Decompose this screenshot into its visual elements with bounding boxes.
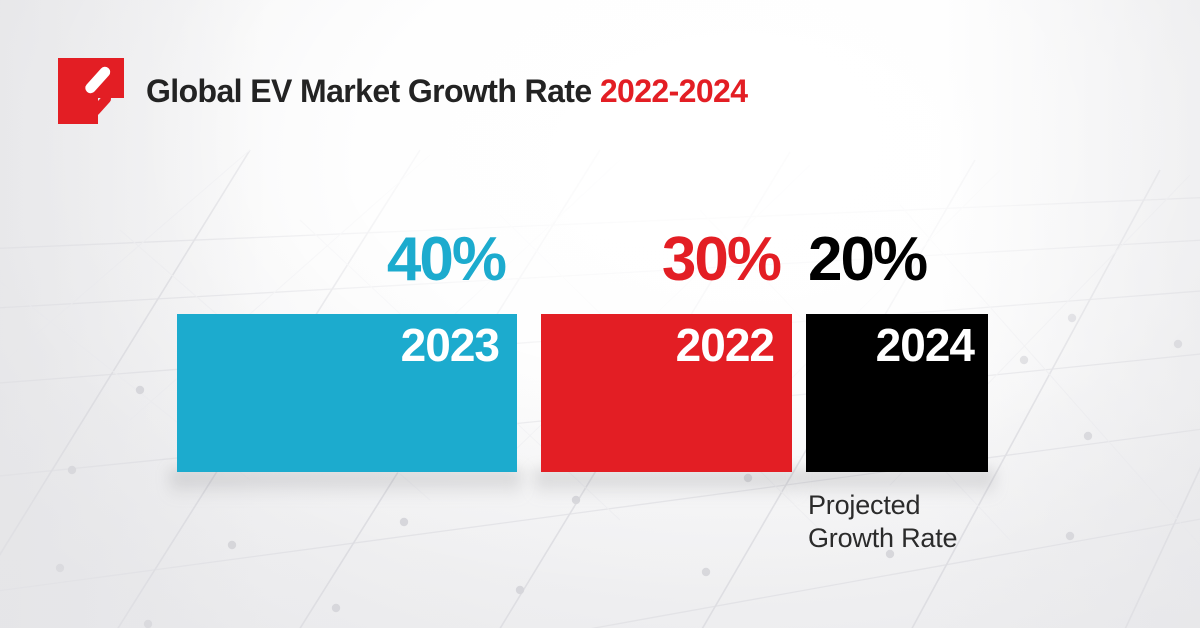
bar-shadow xyxy=(170,470,522,496)
bar-value-label-2024: 20% xyxy=(806,229,988,291)
bar-value-label-2022: 30% xyxy=(541,229,792,291)
projected-growth-caption: Projected Growth Rate xyxy=(808,489,957,556)
bar-category-label-2024: 2024 xyxy=(806,322,988,368)
bar-value-label-2023: 40% xyxy=(177,229,517,291)
bar-chart: 40% 2023 30% 2022 20% 2024 Projected Gro… xyxy=(0,0,1200,628)
bar-shadow xyxy=(534,470,798,496)
bar-category-label-2022: 2022 xyxy=(541,322,792,368)
infographic-canvas: Global EV Market Growth Rate 2022-2024 4… xyxy=(0,0,1200,628)
bar-category-label-2023: 2023 xyxy=(177,322,517,368)
